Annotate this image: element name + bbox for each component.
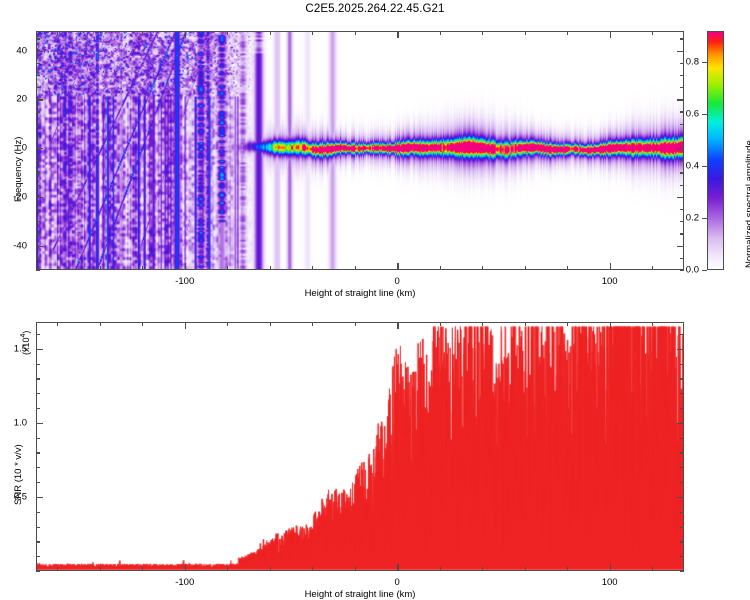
y-minor-tick [680, 408, 684, 409]
snr-y-multiplier: (x104) [20, 331, 31, 355]
x-major-tick [397, 31, 398, 38]
y-minor-tick [680, 209, 684, 210]
x-minor-tick [227, 266, 228, 270]
y-minor-tick [36, 160, 40, 161]
colorbar-label: Normalized spectral amplitude [744, 140, 750, 268]
snr-axes [36, 322, 684, 571]
x-minor-tick [482, 266, 483, 270]
x-minor-tick [525, 266, 526, 270]
y-major-tick [36, 99, 43, 100]
y-minor-tick [36, 75, 40, 76]
colorbar-tick [702, 62, 707, 63]
x-minor-tick [440, 322, 441, 326]
x-minor-tick [57, 322, 58, 326]
y-minor-tick [680, 512, 684, 513]
x-minor-tick [57, 567, 58, 571]
y-minor-tick [36, 334, 40, 335]
y-major-tick [677, 99, 684, 100]
x-minor-tick [440, 266, 441, 270]
y-minor-tick [36, 364, 40, 365]
x-minor-tick [525, 322, 526, 326]
y-minor-tick [36, 258, 40, 259]
y-minor-tick [680, 87, 684, 88]
y-minor-tick [680, 571, 684, 572]
x-minor-tick [312, 567, 313, 571]
x-minor-tick [567, 31, 568, 35]
colorbar [707, 31, 724, 270]
x-minor-tick [652, 31, 653, 35]
y-minor-tick [680, 467, 684, 468]
colorbar-tick-label: 0.2 [673, 213, 699, 224]
x-minor-tick [270, 322, 271, 326]
colorbar-tick-label: 0.8 [673, 57, 699, 68]
x-minor-tick [525, 567, 526, 571]
y-minor-tick [680, 185, 684, 186]
x-minor-tick [525, 31, 526, 35]
y-minor-tick [36, 408, 40, 409]
y-minor-tick [36, 467, 40, 468]
snr-x-axis-label: Height of straight line (km) [305, 589, 416, 600]
y-minor-tick [36, 233, 40, 234]
y-minor-tick [680, 258, 684, 259]
x-minor-tick [227, 31, 228, 35]
y-major-tick [677, 197, 684, 198]
y-minor-tick [680, 172, 684, 173]
y-minor-tick [36, 512, 40, 513]
spectrogram-x-axis-label: Height of straight line (km) [305, 288, 416, 299]
y-minor-tick [36, 393, 40, 394]
y-minor-tick [36, 63, 40, 64]
y-minor-tick [680, 541, 684, 542]
colorbar-tick [702, 218, 707, 219]
y-minor-tick [36, 185, 40, 186]
x-minor-tick [652, 266, 653, 270]
snr-line-plot [37, 323, 683, 570]
x-minor-tick [355, 567, 356, 571]
x-minor-tick [482, 322, 483, 326]
y-minor-tick [680, 38, 684, 39]
x-major-tick [185, 564, 186, 571]
y-major-tick [677, 497, 684, 498]
y-major-tick [36, 423, 43, 424]
x-minor-tick [312, 266, 313, 270]
x-minor-tick [652, 567, 653, 571]
spectrogram-y-axis-label: Frequency (Hz) [13, 137, 24, 202]
x-minor-tick [57, 31, 58, 35]
x-minor-tick [142, 322, 143, 326]
x-minor-tick [100, 31, 101, 35]
x-major-tick [610, 322, 611, 329]
y-tick-label: -40 [0, 240, 27, 251]
y-minor-tick [36, 541, 40, 542]
x-major-tick [397, 322, 398, 329]
x-minor-tick [270, 266, 271, 270]
x-major-tick [610, 263, 611, 270]
x-tick-label: -100 [175, 276, 194, 287]
x-tick-label: 0 [395, 577, 400, 588]
x-major-tick [185, 31, 186, 38]
y-minor-tick [36, 556, 40, 557]
y-major-tick [36, 197, 43, 198]
y-minor-tick [680, 378, 684, 379]
x-minor-tick [270, 567, 271, 571]
y-minor-tick [680, 438, 684, 439]
x-tick-label: 0 [395, 276, 400, 287]
y-minor-tick [680, 334, 684, 335]
y-minor-tick [680, 75, 684, 76]
y-major-tick [677, 349, 684, 350]
x-minor-tick [227, 567, 228, 571]
x-major-tick [397, 564, 398, 571]
y-minor-tick [36, 270, 40, 271]
y-minor-tick [36, 172, 40, 173]
x-minor-tick [227, 322, 228, 326]
colorbar-tick [702, 166, 707, 167]
colorbar-tick-label: 0.6 [673, 109, 699, 120]
y-minor-tick [36, 571, 40, 572]
y-minor-tick [36, 378, 40, 379]
y-minor-tick [36, 38, 40, 39]
x-minor-tick [312, 31, 313, 35]
x-major-tick [610, 564, 611, 571]
x-minor-tick [355, 31, 356, 35]
spectrogram-axes [36, 31, 684, 270]
x-minor-tick [100, 266, 101, 270]
y-major-tick [36, 246, 43, 247]
y-minor-tick [36, 87, 40, 88]
x-minor-tick [482, 31, 483, 35]
y-minor-tick [36, 527, 40, 528]
x-minor-tick [355, 266, 356, 270]
y-tick-label: 40 [0, 45, 27, 56]
colorbar-tick [702, 114, 707, 115]
x-major-tick [185, 263, 186, 270]
y-minor-tick [36, 111, 40, 112]
y-major-tick [36, 148, 43, 149]
x-minor-tick [142, 266, 143, 270]
y-major-tick [36, 497, 43, 498]
x-minor-tick [355, 322, 356, 326]
y-minor-tick [680, 233, 684, 234]
x-tick-label: 100 [602, 276, 618, 287]
y-minor-tick [680, 364, 684, 365]
x-minor-tick [100, 567, 101, 571]
y-minor-tick [680, 482, 684, 483]
y-major-tick [677, 246, 684, 247]
y-major-tick [36, 51, 43, 52]
y-tick-label: 20 [0, 94, 27, 105]
x-minor-tick [482, 567, 483, 571]
x-minor-tick [312, 322, 313, 326]
x-tick-label: 100 [602, 577, 618, 588]
x-minor-tick [567, 567, 568, 571]
y-minor-tick [680, 556, 684, 557]
colorbar-tick-label: 0.4 [673, 161, 699, 172]
y-major-tick [677, 51, 684, 52]
y-minor-tick [36, 124, 40, 125]
x-minor-tick [142, 31, 143, 35]
x-minor-tick [142, 567, 143, 571]
y-minor-tick [36, 209, 40, 210]
x-major-tick [610, 31, 611, 38]
x-minor-tick [440, 567, 441, 571]
x-minor-tick [270, 31, 271, 35]
y-minor-tick [680, 393, 684, 394]
x-minor-tick [567, 322, 568, 326]
y-minor-tick [36, 136, 40, 137]
y-minor-tick [36, 452, 40, 453]
x-minor-tick [567, 266, 568, 270]
spectrogram-image [37, 32, 683, 269]
x-tick-label: -100 [175, 577, 194, 588]
y-tick-label: 1.0 [0, 417, 27, 428]
colorbar-tick-label: 0.0 [673, 265, 699, 276]
y-minor-tick [36, 221, 40, 222]
y-minor-tick [680, 527, 684, 528]
y-major-tick [677, 423, 684, 424]
snr-y-axis-label: SNR (10 * v/v) [13, 444, 24, 505]
y-minor-tick [36, 482, 40, 483]
figure-canvas: C2E5.2025.264.22.45.G21 -1000100-40-2002… [0, 0, 750, 600]
x-minor-tick [652, 322, 653, 326]
y-major-tick [36, 349, 43, 350]
figure-title: C2E5.2025.264.22.45.G21 [0, 3, 750, 15]
colorbar-gradient [708, 32, 723, 269]
x-minor-tick [57, 266, 58, 270]
y-minor-tick [680, 452, 684, 453]
x-major-tick [397, 263, 398, 270]
y-minor-tick [680, 136, 684, 137]
x-minor-tick [440, 31, 441, 35]
y-major-tick [677, 148, 684, 149]
colorbar-tick [702, 270, 707, 271]
x-minor-tick [100, 322, 101, 326]
x-major-tick [185, 322, 186, 329]
y-minor-tick [680, 124, 684, 125]
y-minor-tick [36, 438, 40, 439]
